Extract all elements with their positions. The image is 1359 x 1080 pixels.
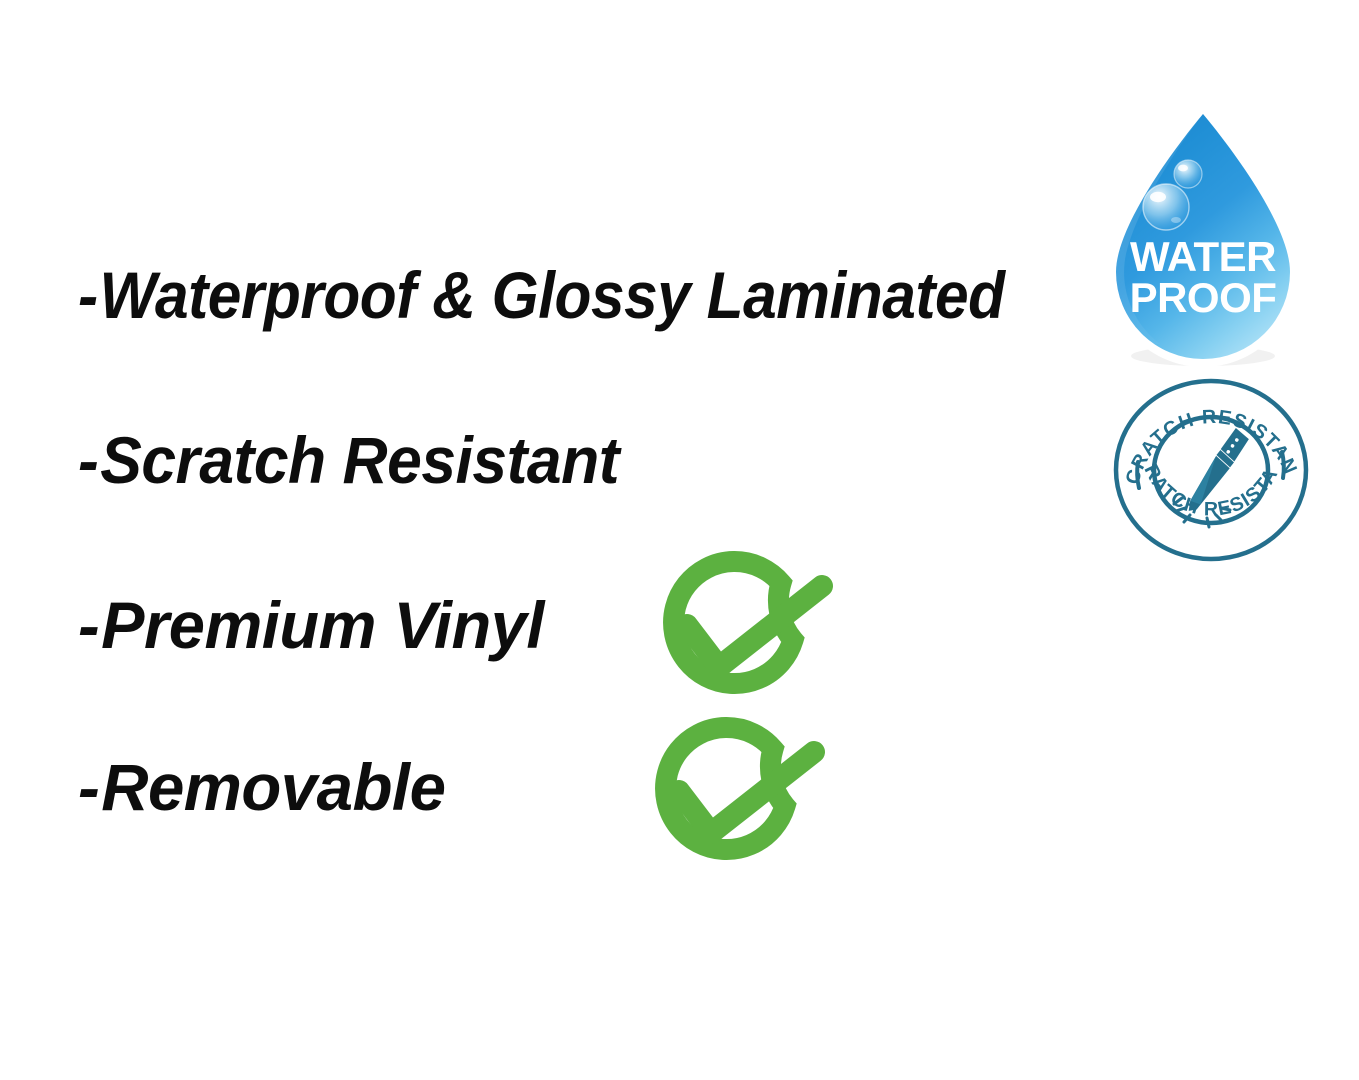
feature-list-graphic: -Waterproof & Glossy Laminated -Scratch …	[0, 0, 1359, 1080]
check-circle-icon	[640, 556, 836, 708]
feature-dash: -	[78, 592, 99, 658]
feature-dash: -	[78, 427, 98, 493]
feature-label: Scratch Resistant	[100, 423, 619, 497]
scratch-resistant-stamp: SCRATCH RESISTANT SCRATCH RESISTANT	[1112, 378, 1310, 562]
water-drop-icon: WATER PROOF	[1096, 104, 1310, 372]
waterproof-line2: PROOF	[1130, 274, 1277, 321]
feature-label: Removable	[101, 750, 445, 824]
waterproof-line1: WATER	[1130, 233, 1276, 280]
scratch-resistant-badge: SCRATCH RESISTANT SCRATCH RESISTANT	[1112, 378, 1310, 562]
checkmark-premium-vinyl	[640, 556, 836, 708]
waterproof-wordmark: WATER PROOF	[1130, 233, 1277, 321]
checkmark-removable	[632, 720, 828, 876]
waterproof-badge: WATER PROOF	[1096, 104, 1310, 372]
feature-dash: -	[78, 754, 99, 820]
check-circle-icon	[632, 720, 828, 876]
feature-label: Premium Vinyl	[101, 588, 544, 662]
check-stroke	[687, 586, 822, 667]
check-stroke	[679, 752, 814, 833]
feature-item-scratch-resistant: -Scratch Resistant	[78, 427, 619, 493]
feature-dash: -	[78, 262, 98, 328]
feature-item-removable: -Removable	[78, 754, 445, 820]
feature-item-waterproof: -Waterproof & Glossy Laminated	[78, 262, 1005, 328]
feature-item-premium-vinyl: -Premium Vinyl	[78, 592, 544, 658]
feature-label: Waterproof & Glossy Laminated	[99, 258, 1004, 332]
